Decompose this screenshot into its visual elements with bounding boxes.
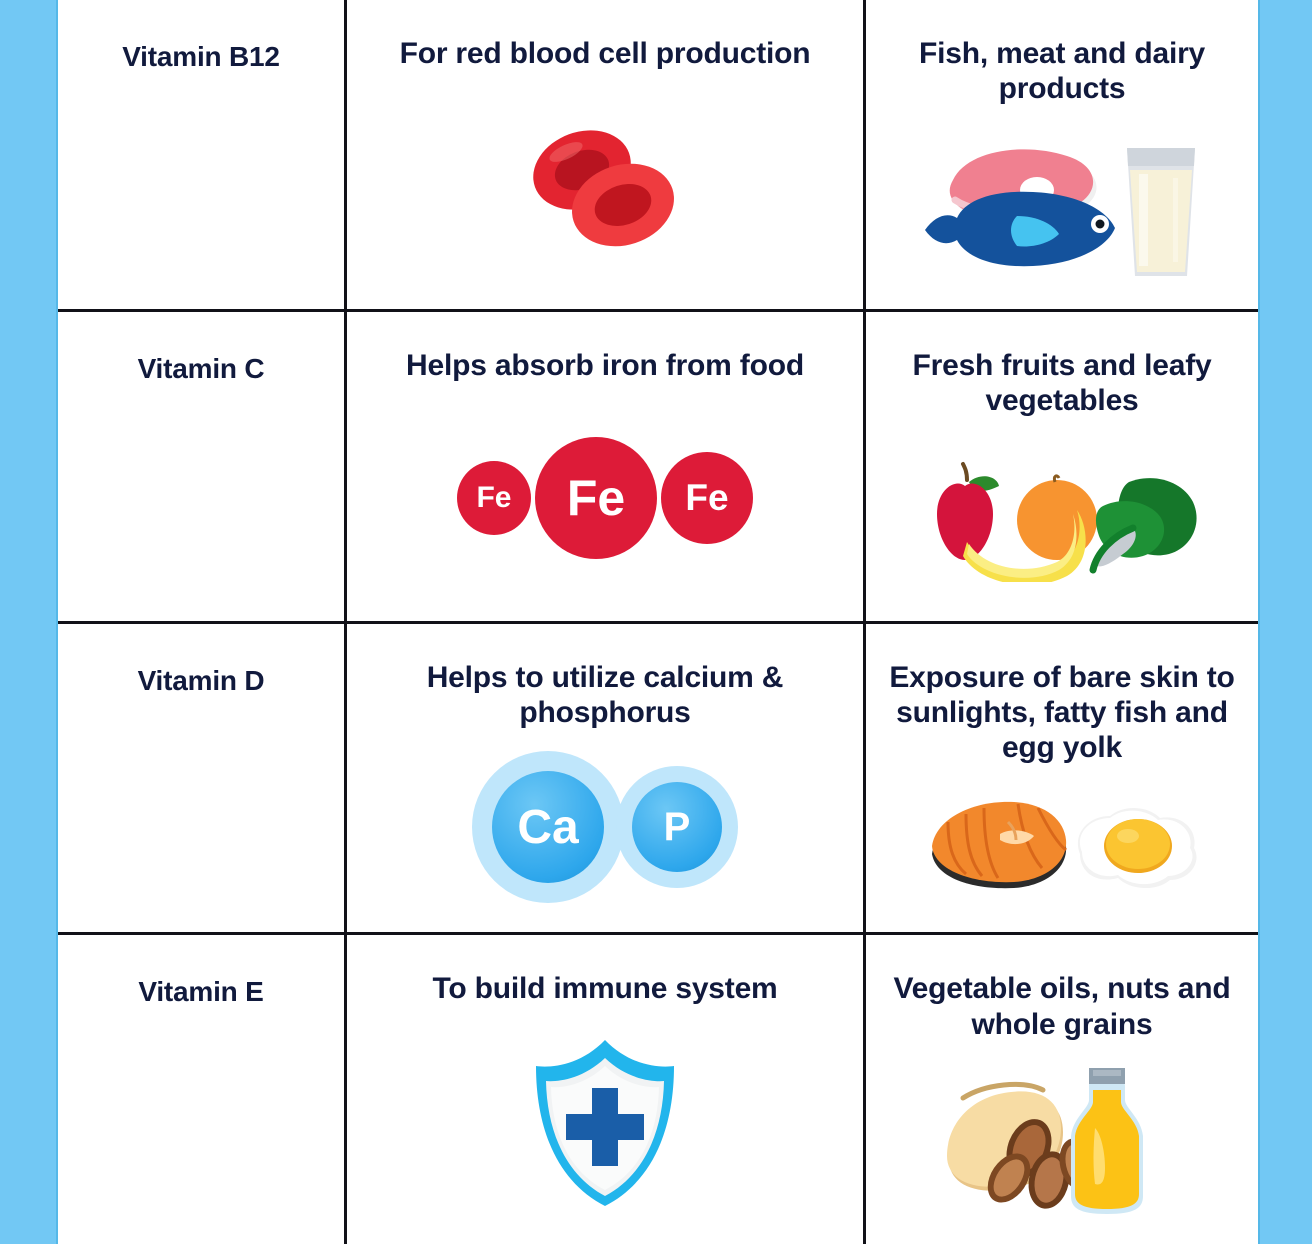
table-row: Vitamin D Helps to utilize calcium & pho… <box>58 624 1258 936</box>
vitamin-source-label: Vegetable oils, nuts and whole grains <box>882 971 1242 1042</box>
shield-plus-immunity-icon <box>361 1007 849 1234</box>
calcium-badge-label: Ca <box>492 771 604 883</box>
vitamin-source-label: Exposure of bare skin to sunlights, fatt… <box>882 660 1242 766</box>
infographic-root: Vitamin B12 For red blood cell productio… <box>0 0 1312 1244</box>
vitamin-function-cell: For red blood cell production <box>347 0 866 309</box>
vitamin-function-label: Helps to utilize calcium & phosphorus <box>375 660 835 731</box>
fruits-vegetables-icon <box>880 419 1244 611</box>
vitamin-name-cell: Vitamin B12 <box>58 0 347 309</box>
phosphorus-badge-label: P <box>632 782 722 872</box>
fe-badge-group: Fe Fe Fe <box>457 437 753 559</box>
table-row: Vitamin B12 For red blood cell productio… <box>58 0 1258 312</box>
vitamin-function-label: Helps absorb iron from food <box>406 348 804 383</box>
vitamin-name-label: Vitamin D <box>138 664 265 697</box>
vitamin-name-label: Vitamin E <box>138 975 263 1008</box>
vitamin-source-cell: Exposure of bare skin to sunlights, fatt… <box>866 624 1258 933</box>
vitamin-source-cell: Vegetable oils, nuts and whole grains <box>866 935 1258 1244</box>
element-badge-group: Ca P <box>472 751 738 903</box>
vitamin-function-label: For red blood cell production <box>400 36 811 71</box>
vitamin-function-cell: Helps to utilize calcium & phosphorus Ca… <box>347 624 866 933</box>
vitamin-source-label: Fresh fruits and leafy vegetables <box>882 348 1242 419</box>
vitamin-name-cell: Vitamin D <box>58 624 347 933</box>
vitamin-function-cell: Helps absorb iron from food Fe Fe Fe <box>347 312 866 621</box>
calcium-phosphorus-icon: Ca P <box>361 730 849 922</box>
iron-fe-molecules-icon: Fe Fe Fe <box>361 383 849 610</box>
vitamin-function-cell: To build immune system <box>347 935 866 1244</box>
fish-meat-milk-icon <box>880 107 1244 299</box>
vitamin-name-cell: Vitamin E <box>58 935 347 1244</box>
table-row: Vitamin E To build immune system Vegetab… <box>58 935 1258 1244</box>
vitamin-source-label: Fish, meat and dairy products <box>882 36 1242 107</box>
fe-badge-medium: Fe <box>661 452 753 544</box>
vitamin-function-label: To build immune system <box>432 971 777 1006</box>
calcium-badge-outer: Ca <box>472 751 624 903</box>
vitamin-source-cell: Fish, meat and dairy products <box>866 0 1258 309</box>
fe-badge-large: Fe <box>535 437 657 559</box>
vitamin-name-label: Vitamin C <box>138 352 265 385</box>
salmon-egg-icon <box>880 766 1244 923</box>
bread-nuts-oil-icon <box>880 1042 1244 1234</box>
red-blood-cells-icon <box>361 71 849 298</box>
phosphorus-badge-outer: P <box>616 766 738 888</box>
vitamin-source-cell: Fresh fruits and leafy vegetables <box>866 312 1258 621</box>
vitamin-table: Vitamin B12 For red blood cell productio… <box>56 0 1260 1244</box>
fe-badge-small: Fe <box>457 461 531 535</box>
vitamin-name-cell: Vitamin C <box>58 312 347 621</box>
table-row: Vitamin C Helps absorb iron from food Fe… <box>58 312 1258 624</box>
vitamin-name-label: Vitamin B12 <box>122 40 280 73</box>
